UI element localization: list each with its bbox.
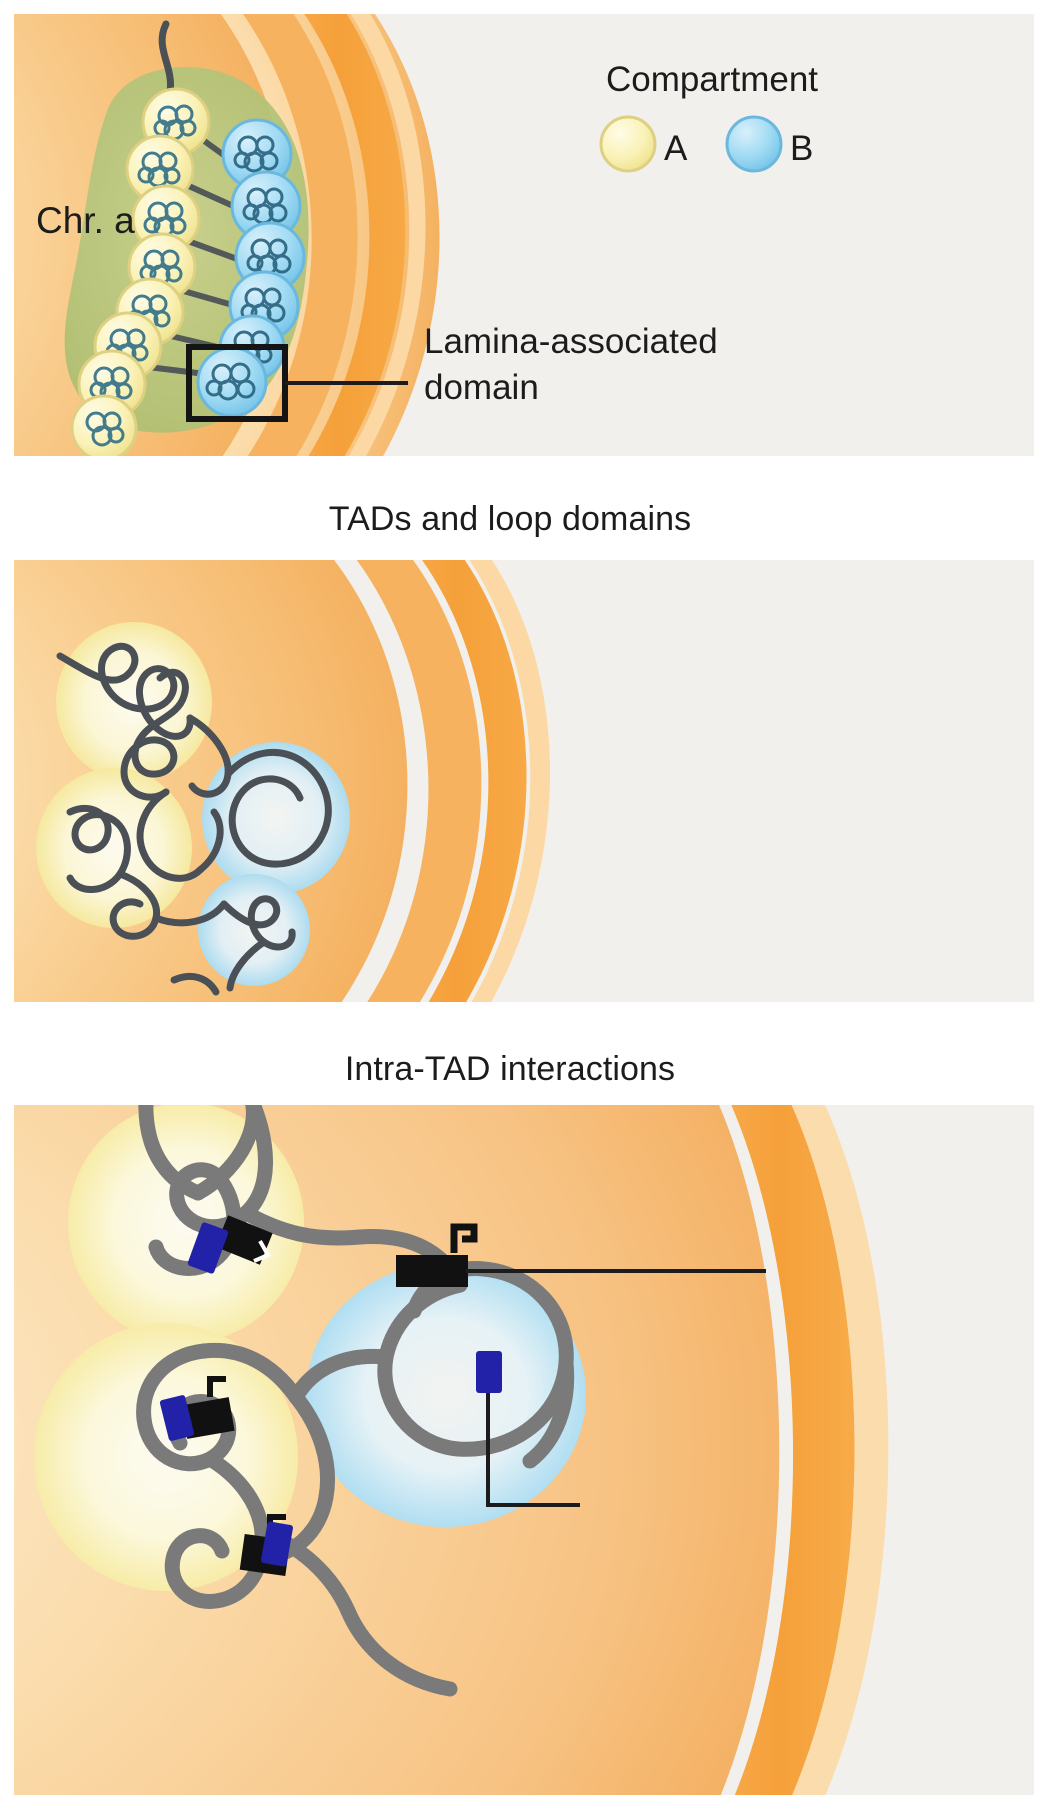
lad-callout-line1: Lamina-associated	[424, 322, 718, 361]
legend-title: Compartment	[606, 60, 818, 100]
lad-callout-line2: domain	[424, 368, 539, 407]
panel-compartments: Compartment A B Chr. a Lamina-associated…	[14, 14, 1034, 456]
lad-callout-label: Lamina-associateddomain	[424, 319, 718, 411]
compartment-b-globule-lad	[198, 348, 266, 416]
panel-b-graphic	[14, 560, 1034, 1002]
legend-label-a: A	[664, 129, 687, 169]
panel-title-tads: TADs and loop domains	[0, 500, 1020, 539]
enhancer-marker-b-tad	[476, 1351, 502, 1393]
panel-tads-loop-domains	[14, 560, 1034, 1002]
chromosome-label: Chr. a	[36, 200, 135, 242]
legend-swatch-b	[727, 117, 781, 171]
legend-swatch-a	[601, 117, 655, 171]
chromatin-organization-figure: Compartment A B Chr. a Lamina-associated…	[0, 0, 1048, 1802]
legend-label-b: B	[790, 129, 813, 169]
panel-c-graphic	[14, 1105, 1034, 1795]
panel-title-intra-tad: Intra-TAD interactions	[0, 1050, 1020, 1089]
panel-intra-tad-interactions: Gene Enh.	[14, 1105, 1034, 1795]
compartment-a-globule	[72, 396, 136, 456]
